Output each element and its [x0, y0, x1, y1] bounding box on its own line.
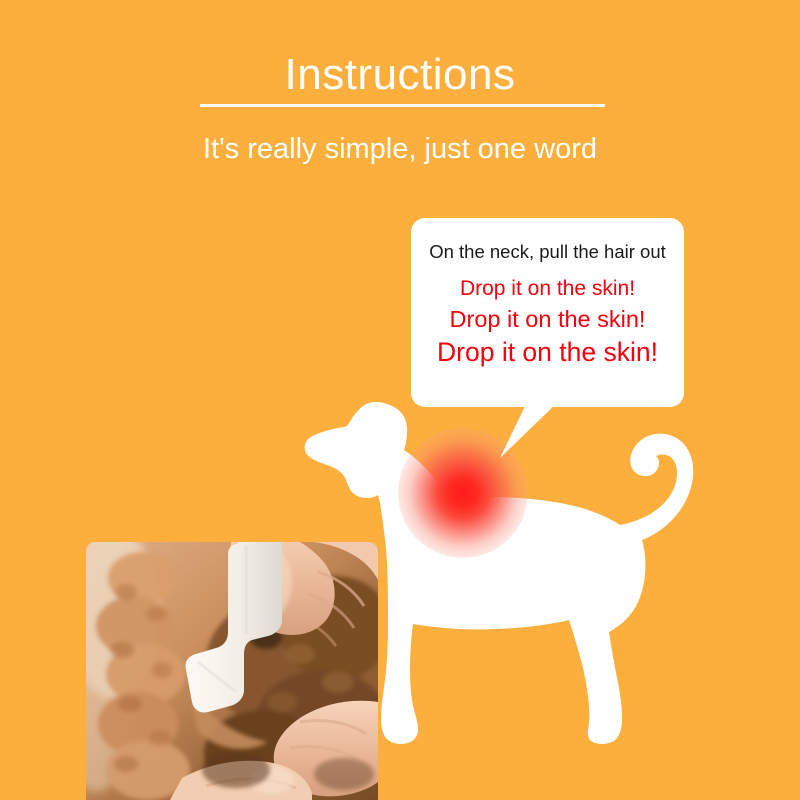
title-underline-divider — [200, 104, 605, 107]
page-subtitle: It's really simple, just one word — [0, 130, 800, 168]
bubble-lead-line: On the neck, pull the hair out — [421, 240, 674, 264]
bubble-emphasis-line-3: Drop it on the skin! — [421, 335, 674, 369]
header-block: Instructions It's really simple, just on… — [0, 0, 800, 180]
bubble-emphasis-line-1: Drop it on the skin! — [421, 274, 674, 304]
instructions-poster: Instructions It's really simple, just on… — [0, 0, 800, 800]
application-photo-image — [86, 542, 378, 800]
bubble-emphasis-line-2: Drop it on the skin! — [421, 304, 674, 335]
application-photo — [86, 542, 378, 800]
page-title: Instructions — [0, 50, 800, 100]
speech-bubble: On the neck, pull the hair out Drop it o… — [411, 218, 684, 407]
